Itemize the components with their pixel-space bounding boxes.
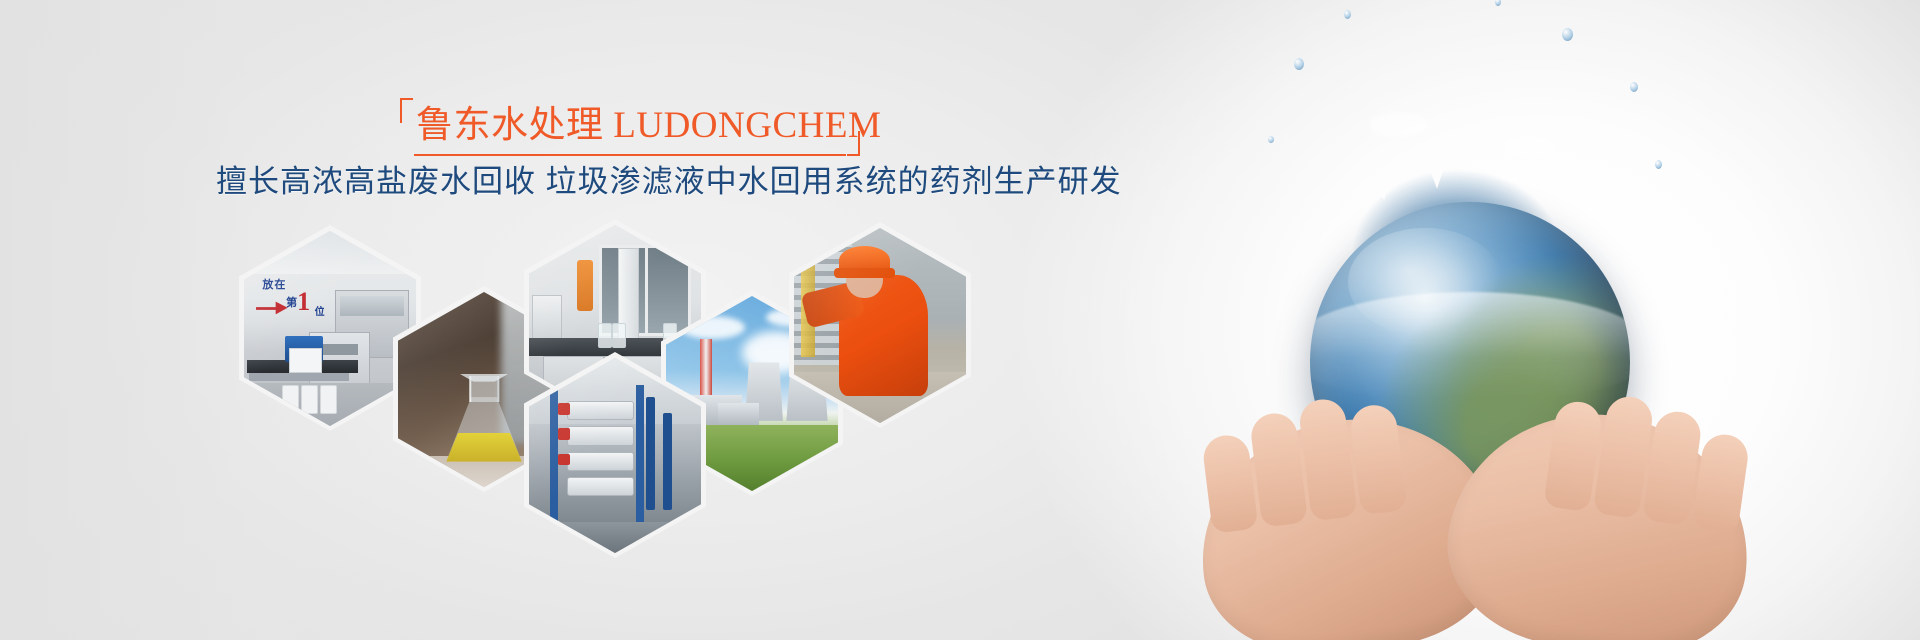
wall-slogan-top: 放在 — [262, 276, 286, 292]
water-droplet — [1630, 82, 1638, 92]
finger — [1249, 410, 1308, 527]
hexagon-photo-cluster: 放在 第 1 位 — [0, 0, 1100, 640]
globe-highlight — [1348, 228, 1502, 337]
water-droplet — [1294, 58, 1304, 70]
frame-column — [636, 385, 645, 529]
bench-glassware — [598, 323, 612, 348]
membrane-vessel — [567, 426, 634, 446]
lab-white-equipment — [289, 348, 322, 373]
wall-slogan-arrow-icon — [256, 297, 288, 314]
water-droplet — [1344, 10, 1351, 19]
water-globe-artwork — [1190, 0, 1750, 640]
membrane-vessel — [567, 477, 634, 497]
blue-pipe — [663, 413, 672, 511]
water-droplet — [1268, 136, 1274, 143]
red-valve — [558, 454, 570, 466]
flask-lip — [460, 374, 508, 382]
finger — [1692, 431, 1751, 532]
bench-cabinet — [532, 295, 562, 340]
water-mist — [1369, 112, 1429, 138]
flask-yellow-liquid — [446, 433, 522, 462]
membrane-vessel — [567, 401, 634, 421]
lab-jug — [301, 385, 318, 414]
red-valve — [558, 403, 570, 415]
bench-orange-stand — [577, 260, 592, 311]
hero-banner: 鲁东水处理 LUDONGCHEM 擅长高浓高盐废水回收 垃圾渗滤液中水回用系统的… — [0, 0, 1920, 640]
flask — [446, 376, 522, 462]
wall-slogan-mid: 第 — [286, 294, 297, 310]
plant-floor — [529, 522, 701, 553]
wall-slogan-tail: 位 — [315, 303, 325, 318]
lab-ceiling — [244, 231, 416, 274]
plant-building — [718, 403, 759, 426]
water-droplet — [1655, 160, 1662, 169]
safety-helmet-icon — [839, 246, 891, 275]
water-mist — [1504, 136, 1556, 158]
frame-column — [550, 385, 559, 529]
finger — [1201, 432, 1258, 533]
water-droplet — [1495, 0, 1501, 6]
blue-pipe — [646, 397, 655, 510]
bench-glassware — [612, 323, 626, 348]
wall-slogan-number: 1 — [297, 289, 310, 315]
water-droplet — [1562, 28, 1573, 41]
lab-bench-shelf — [249, 373, 349, 381]
lab-jug — [320, 385, 337, 414]
wall-slogan: 放在 第 1 位 — [256, 276, 335, 327]
red-valve — [558, 428, 570, 440]
membrane-vessel — [567, 452, 634, 472]
